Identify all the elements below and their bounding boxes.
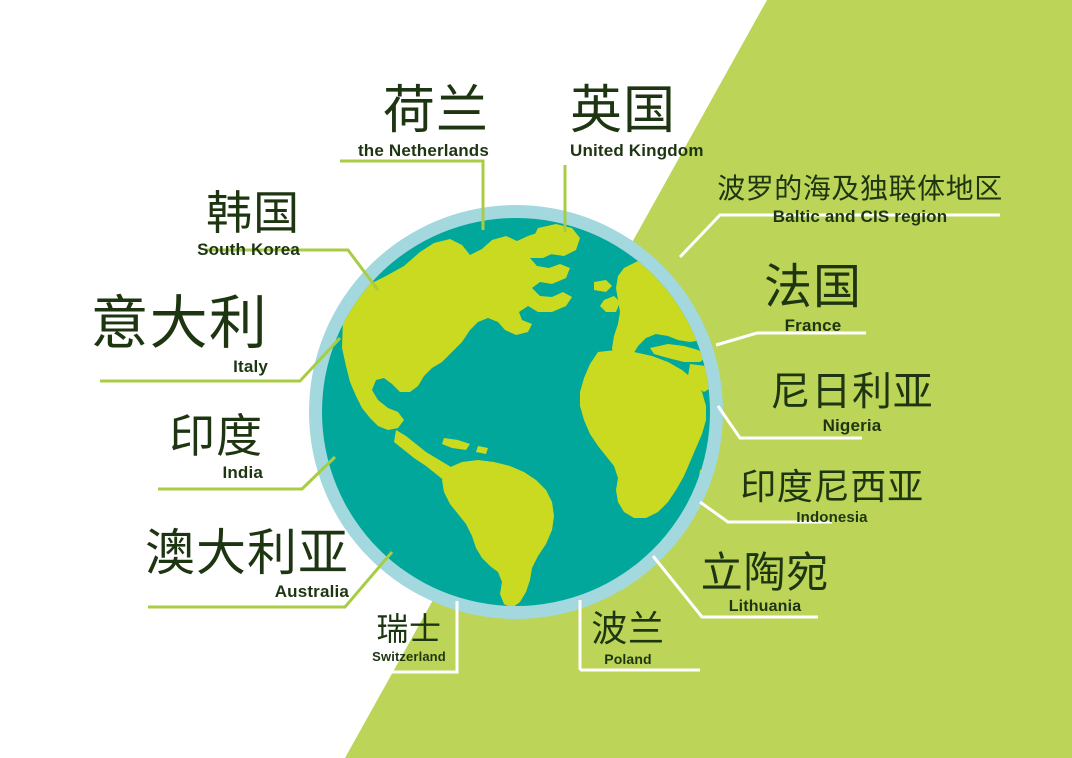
- label-india-en: India: [63, 464, 263, 481]
- label-switzerland-en: Switzerland: [336, 650, 482, 663]
- label-united-kingdom-cn: 英国: [570, 85, 830, 137]
- label-united-kingdom: 英国 United Kingdom: [570, 85, 830, 159]
- label-south-korea: 韩国 South Korea: [60, 190, 300, 258]
- label-poland-cn: 波兰: [555, 611, 701, 647]
- label-baltic-cis-cn: 波罗的海及独联体地区: [713, 175, 1007, 203]
- label-nigeria: 尼日利亚 Nigeria: [748, 372, 956, 434]
- world-presence-infographic: 韩国 South Korea 荷兰 the Netherlands 英国 Uni…: [0, 0, 1072, 758]
- label-switzerland: 瑞士 Switzerland: [336, 613, 482, 663]
- label-lithuania: 立陶宛 Lithuania: [691, 552, 839, 615]
- label-lithuania-en: Lithuania: [691, 599, 839, 615]
- label-layer: 韩国 South Korea 荷兰 the Netherlands 英国 Uni…: [0, 0, 1072, 758]
- label-italy-cn: 意大利: [28, 295, 268, 353]
- label-netherlands: 荷兰 the Netherlands: [249, 85, 489, 159]
- label-italy: 意大利 Italy: [28, 295, 268, 375]
- label-australia-cn: 澳大利亚: [109, 528, 349, 578]
- label-indonesia: 印度尼西亚 Indonesia: [736, 469, 928, 525]
- label-switzerland-cn: 瑞士: [336, 613, 482, 645]
- label-indonesia-en: Indonesia: [736, 510, 928, 525]
- label-united-kingdom-en: United Kingdom: [570, 142, 830, 159]
- label-india: 印度 India: [63, 413, 263, 481]
- label-south-korea-en: South Korea: [60, 241, 300, 258]
- label-indonesia-cn: 印度尼西亚: [736, 469, 928, 505]
- label-netherlands-cn: 荷兰: [249, 85, 489, 137]
- label-poland-en: Poland: [555, 652, 701, 666]
- label-france: 法国 France: [713, 264, 913, 334]
- label-france-cn: 法国: [713, 264, 913, 312]
- label-nigeria-cn: 尼日利亚: [748, 372, 956, 412]
- label-india-cn: 印度: [63, 413, 263, 459]
- label-netherlands-en: the Netherlands: [249, 142, 489, 159]
- label-poland: 波兰 Poland: [555, 611, 701, 666]
- label-nigeria-en: Nigeria: [748, 417, 956, 434]
- label-baltic-cis-en: Baltic and CIS region: [713, 208, 1007, 225]
- label-italy-en: Italy: [28, 358, 268, 375]
- label-south-korea-cn: 韩国: [60, 190, 300, 236]
- label-baltic-cis: 波罗的海及独联体地区 Baltic and CIS region: [713, 175, 1007, 225]
- label-australia-en: Australia: [109, 583, 349, 600]
- label-australia: 澳大利亚 Australia: [109, 528, 349, 600]
- label-lithuania-cn: 立陶宛: [691, 552, 839, 594]
- label-france-en: France: [713, 317, 913, 334]
